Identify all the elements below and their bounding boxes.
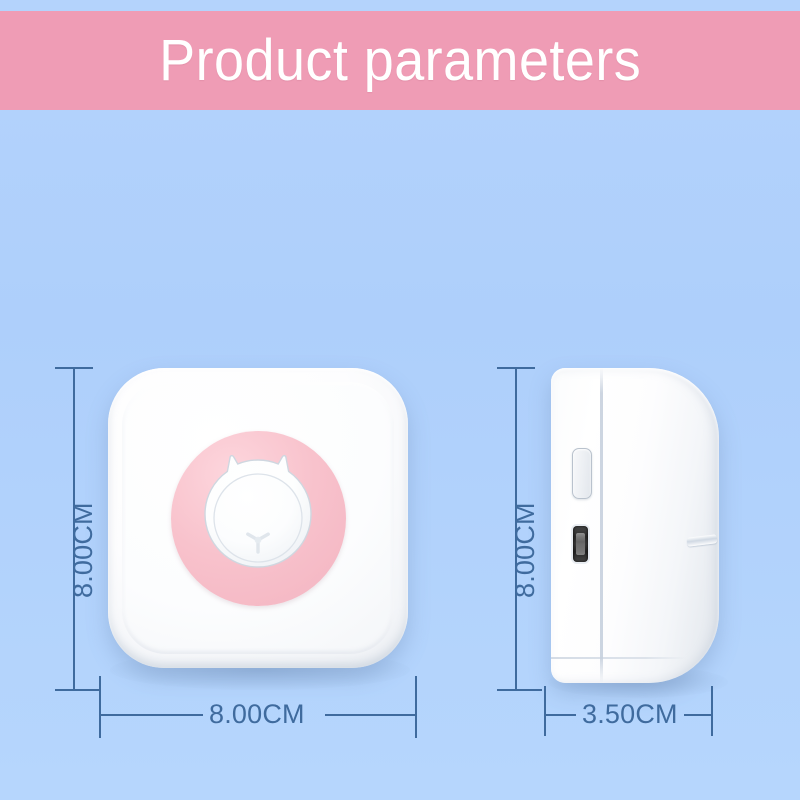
header-banner: Product parameters — [0, 11, 800, 110]
left-width-line-right — [325, 714, 417, 716]
left-height-bottom-tick — [55, 689, 100, 691]
left-width-label: 8.00CM — [209, 701, 305, 728]
case-seam-line — [600, 368, 603, 683]
left-width-left-tick — [99, 676, 101, 738]
right-width-line-right — [684, 714, 713, 716]
right-width-left-tick — [544, 686, 546, 736]
right-width-line-left — [544, 714, 576, 716]
page-title: Product parameters — [159, 32, 641, 90]
left-width-right-tick — [415, 676, 417, 738]
left-height-label: 8.00CM — [70, 502, 97, 598]
right-height-label: 8.00CM — [512, 502, 539, 598]
left-width-line-left — [99, 714, 203, 716]
right-width-right-tick — [711, 686, 713, 736]
product-parameters-page: Product parameters — [0, 0, 800, 800]
device-top-view-body — [108, 368, 408, 668]
paper-outlet-slot — [687, 534, 718, 547]
power-button[interactable] — [572, 448, 592, 499]
case-seam-bottom — [551, 657, 686, 659]
device-side-view-body — [551, 368, 719, 683]
right-width-label: 3.50CM — [582, 701, 678, 728]
cat-ear-button — [194, 454, 322, 582]
right-height-bottom-tick — [497, 689, 542, 691]
micro-usb-port — [573, 526, 588, 562]
